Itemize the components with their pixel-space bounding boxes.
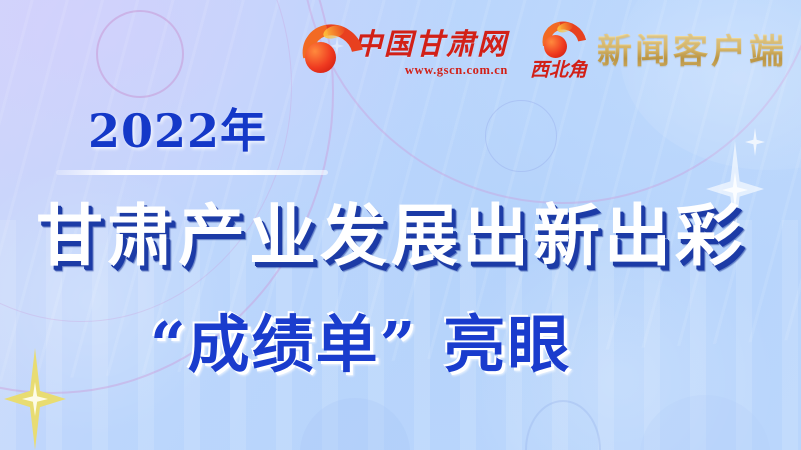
sub-headline-quote-close: ” — [380, 308, 418, 381]
sparkle-icon — [745, 128, 765, 156]
decorative-disc-bottom-right — [640, 395, 770, 450]
year-underline-rule — [56, 170, 328, 175]
sparkle-icon — [4, 348, 66, 450]
gansu-net-wordmark: 中国甘肃网 www.gscn.com.cn — [353, 24, 508, 78]
decorative-circle-small-top-left — [96, 10, 184, 98]
year-label: 2022年 — [88, 108, 267, 154]
main-headline: 甘肃产业发展出新出彩 — [36, 200, 778, 271]
sub-headline-quote-open: “ — [150, 308, 188, 381]
gansu-net-flame-mark-icon — [301, 24, 347, 74]
decorative-disc-bottom-left — [300, 398, 410, 450]
sub-headline-tail-text: 亮眼 — [443, 308, 571, 381]
xibeijiao-product-name: 新闻客户端 — [597, 34, 787, 69]
gansu-net-url: www.gscn.com.cn — [353, 63, 508, 78]
logo-bar: 中国甘肃网 www.gscn.com.cn 西北角 新闻客户端 — [301, 22, 787, 80]
gansu-net-logo[interactable]: 中国甘肃网 www.gscn.com.cn — [301, 24, 508, 78]
background-glow-left — [0, 150, 240, 450]
sparkle-icon — [22, 382, 48, 416]
xibeijiao-brand-name: 西北角 — [530, 61, 587, 80]
gansu-net-name: 中国甘肃网 — [353, 30, 508, 59]
sub-headline: “成绩单”亮眼 — [150, 312, 790, 378]
poster-canvas: 中国甘肃网 www.gscn.com.cn 西北角 新闻客户端 2022年 甘肃… — [0, 0, 801, 450]
xibeijiao-brand-mark: 西北角 — [530, 22, 587, 80]
decorative-circle-small-center — [485, 100, 557, 172]
flame-ball-shape — [305, 42, 336, 73]
xibeijiao-app-logo[interactable]: 西北角 新闻客户端 — [530, 22, 787, 80]
sub-headline-quoted-text: 成绩单 — [188, 308, 380, 381]
xibeijiao-flame-mark-icon — [541, 22, 575, 58]
decorative-circle-bottom-center — [525, 400, 601, 450]
